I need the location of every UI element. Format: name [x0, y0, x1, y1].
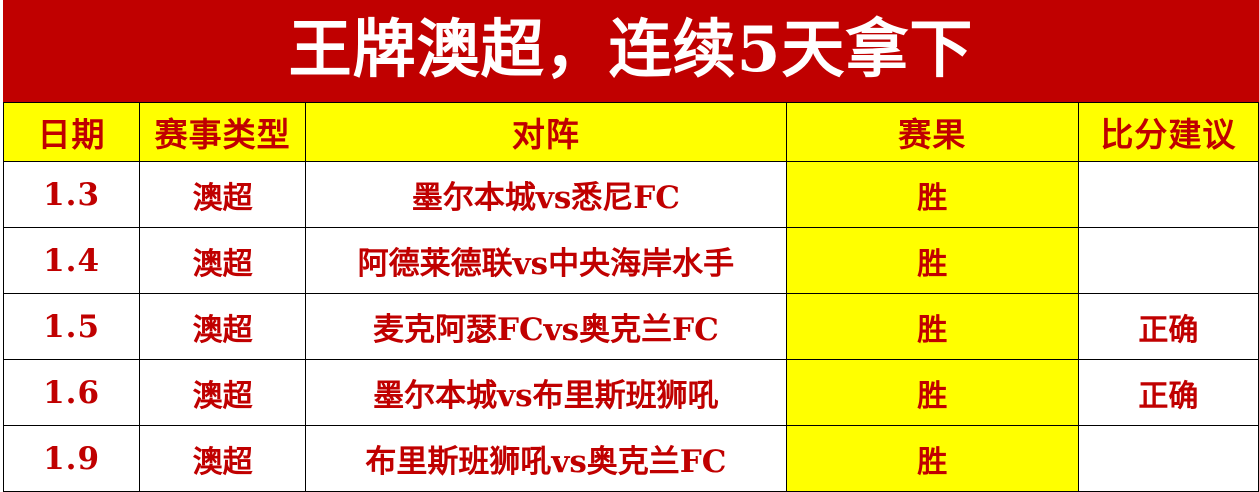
table-row: 1.5 澳超 麦克阿瑟FCvs奥克兰FC 胜 正确 — [4, 294, 1259, 360]
table-header-row: 日期 赛事类型 对阵 赛果 比分建议 — [4, 103, 1259, 162]
cell-date: 1.6 — [4, 360, 140, 426]
cell-result: 胜 — [786, 294, 1078, 360]
cell-score: 正确 — [1078, 360, 1258, 426]
cell-type: 澳超 — [140, 162, 306, 228]
cell-type: 澳超 — [140, 294, 306, 360]
cell-score — [1078, 228, 1258, 294]
table-row: 1.9 澳超 布里斯班狮吼vs奥克兰FC 胜 — [4, 426, 1259, 492]
cell-match: 墨尔本城vs悉尼FC — [306, 162, 786, 228]
prediction-table-sheet: 王牌澳超，连续5天拿下 日期 赛事类型 对阵 赛果 比分建议 1.3 澳超 墨尔… — [0, 0, 1259, 491]
cell-score: 正确 — [1078, 294, 1258, 360]
cell-result: 胜 — [786, 426, 1078, 492]
cell-result: 胜 — [786, 360, 1078, 426]
column-header-score: 比分建议 — [1078, 103, 1258, 162]
cell-date: 1.9 — [4, 426, 140, 492]
cell-type: 澳超 — [140, 360, 306, 426]
table-row: 1.4 澳超 阿德莱德联vs中央海岸水手 胜 — [4, 228, 1259, 294]
cell-date: 1.4 — [4, 228, 140, 294]
cell-type: 澳超 — [140, 426, 306, 492]
cell-match: 布里斯班狮吼vs奥克兰FC — [306, 426, 786, 492]
table-row: 1.6 澳超 墨尔本城vs布里斯班狮吼 胜 正确 — [4, 360, 1259, 426]
table-row: 1.3 澳超 墨尔本城vs悉尼FC 胜 — [4, 162, 1259, 228]
column-header-type: 赛事类型 — [140, 103, 306, 162]
title-banner: 王牌澳超，连续5天拿下 — [3, 0, 1259, 102]
cell-score — [1078, 162, 1258, 228]
cell-match: 阿德莱德联vs中央海岸水手 — [306, 228, 786, 294]
cell-date: 1.5 — [4, 294, 140, 360]
cell-date: 1.3 — [4, 162, 140, 228]
column-header-result: 赛果 — [786, 103, 1078, 162]
cell-type: 澳超 — [140, 228, 306, 294]
cell-score — [1078, 426, 1258, 492]
cell-match: 麦克阿瑟FCvs奥克兰FC — [306, 294, 786, 360]
banner-title: 王牌澳超，连续5天拿下 — [289, 18, 974, 81]
column-header-match: 对阵 — [306, 103, 786, 162]
column-header-date: 日期 — [4, 103, 140, 162]
cell-result: 胜 — [786, 162, 1078, 228]
match-predictions-table: 日期 赛事类型 对阵 赛果 比分建议 1.3 澳超 墨尔本城vs悉尼FC 胜 1… — [3, 102, 1259, 492]
cell-match: 墨尔本城vs布里斯班狮吼 — [306, 360, 786, 426]
cell-result: 胜 — [786, 228, 1078, 294]
